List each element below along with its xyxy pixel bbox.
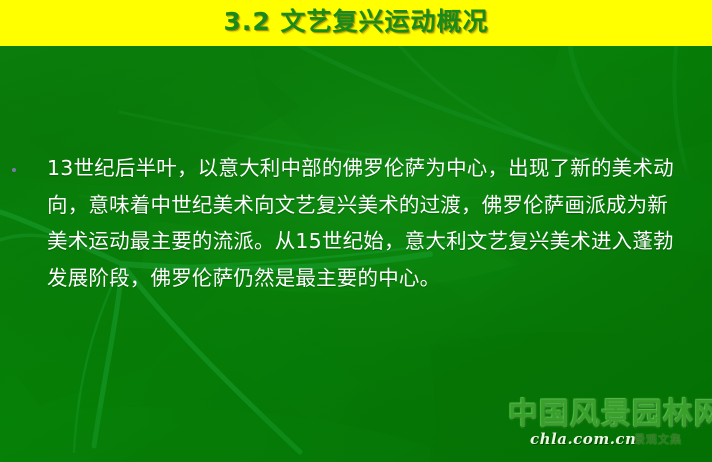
body-line: 发展阶段，佛罗伦萨仍然是最主要的中心。 — [47, 260, 687, 297]
body-line: 13世纪后半叶，以意大利中部的佛罗伦萨为中心，出现了新的美术动 — [47, 150, 687, 187]
body-line: 美术运动最主要的流派。从15世纪始，意大利文艺复兴美术进入蓬勃 — [47, 223, 687, 260]
site-watermark-logo: 中国风景园林网 chla.com.cn 景观文集 — [508, 398, 704, 456]
watermark-seal-text: 景观文集 — [634, 431, 682, 447]
page-title: 3.2 文艺复兴运动概况 — [0, 0, 712, 46]
slide-title-bar: 3.2 文艺复兴运动概况 — [0, 0, 712, 46]
watermark-url-text: chla.com.cn — [530, 430, 636, 448]
bullet-point-icon — [12, 168, 16, 172]
watermark-brand-text: 中国风景园林网 — [508, 398, 712, 432]
body-paragraph: 13世纪后半叶，以意大利中部的佛罗伦萨为中心，出现了新的美术动 向，意味着中世纪… — [47, 150, 687, 296]
body-line: 向，意味着中世纪美术向文艺复兴美术的过渡，佛罗伦萨画派成为新 — [47, 187, 687, 224]
presentation-slide: 3.2 文艺复兴运动概况 13世纪后半叶，以意大利中部的佛罗伦萨为中心，出现了新… — [0, 0, 712, 462]
